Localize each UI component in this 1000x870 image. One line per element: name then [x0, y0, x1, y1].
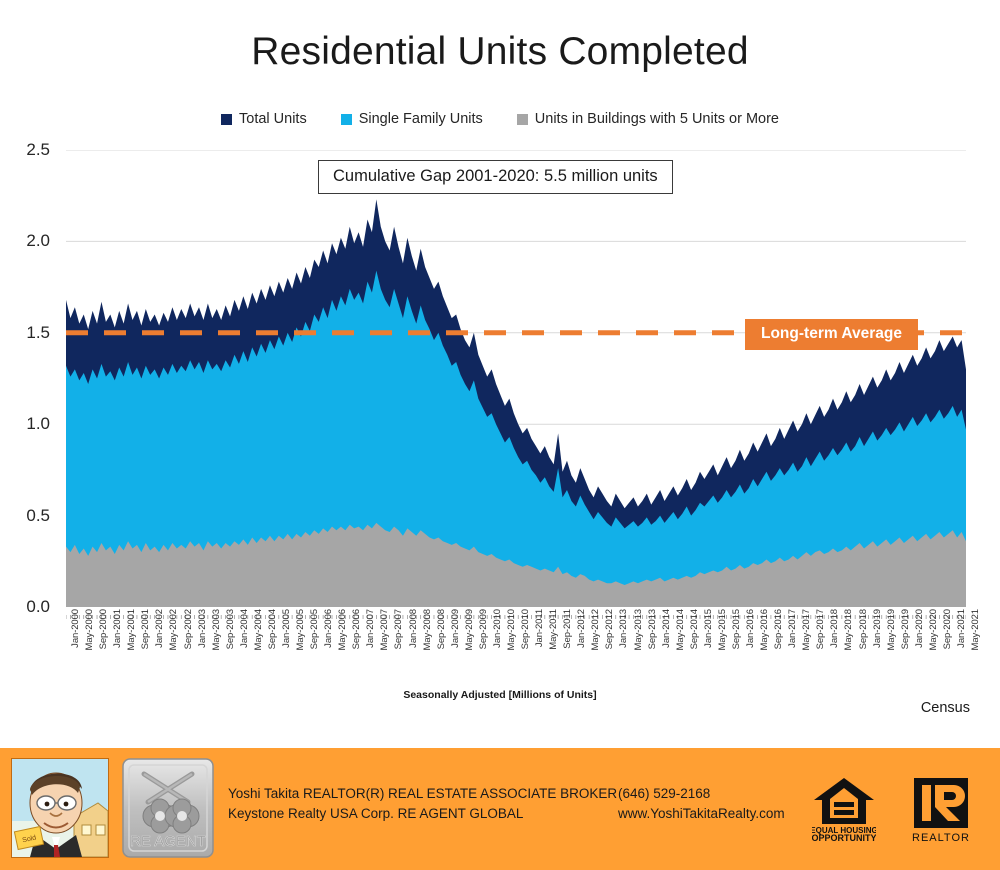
- x-axis-tick-label: May-2009: [464, 609, 475, 650]
- y-axis-tick-label: 1.5: [0, 323, 50, 343]
- x-axis-tick-label: Sep-2013: [647, 609, 658, 649]
- x-axis-tick-label: Sep-2016: [773, 609, 784, 649]
- x-axis-tick-label: Sep-2019: [900, 609, 911, 649]
- square-swatch-icon: [341, 114, 352, 125]
- x-axis-tick-label: Sep-2020: [942, 609, 953, 649]
- x-axis-tick-label: Sep-2003: [225, 609, 236, 649]
- x-axis-tick-label: Sep-2006: [351, 609, 362, 649]
- contact-row-1: Yoshi Takita REALTOR(R) REAL ESTATE ASSO…: [228, 784, 785, 804]
- x-axis-tick-label: Jan-2005: [281, 609, 292, 648]
- x-axis-tick-label: Jan-2003: [197, 609, 208, 648]
- agent-company: Keystone Realty USA Corp. RE AGENT GLOBA…: [228, 804, 618, 824]
- x-axis-tick-label: May-2018: [843, 609, 854, 650]
- x-axis-tick-label: May-2019: [886, 609, 897, 650]
- x-axis-tick-label: Jan-2001: [112, 609, 123, 648]
- x-axis-tick-label: May-2001: [126, 609, 137, 650]
- source-label: Census: [921, 700, 970, 716]
- plot-area: [66, 150, 966, 607]
- x-axis-tick-label: Sep-2018: [858, 609, 869, 649]
- x-axis-tick-label: May-2000: [84, 609, 95, 650]
- caricature-portrait-icon: Sold: [12, 759, 108, 857]
- legend-label: Single Family Units: [359, 111, 483, 127]
- footer-banner: Sold: [0, 748, 1000, 870]
- legend-item-total: Total Units: [221, 111, 307, 127]
- agent-name: Yoshi Takita REALTOR(R) REAL ESTATE ASSO…: [228, 784, 618, 804]
- agent-contact-block: Yoshi Takita REALTOR(R) REAL ESTATE ASSO…: [228, 784, 785, 823]
- y-axis-tick-label: 1.0: [0, 414, 50, 434]
- x-axis-tick-label: May-2013: [633, 609, 644, 650]
- x-axis-tick-label: Jan-2016: [745, 609, 756, 648]
- x-axis-tick-label: May-2017: [801, 609, 812, 650]
- x-axis-tick-label: Sep-2015: [731, 609, 742, 649]
- x-axis-tick-label: Jan-2006: [323, 609, 334, 648]
- x-axis-tick-label: Sep-2008: [436, 609, 447, 649]
- long-term-average-label: Long-term Average: [745, 319, 918, 350]
- x-axis-tick-label: May-2010: [506, 609, 517, 650]
- chart-page: Residential Units Completed Total Units …: [0, 0, 1000, 870]
- re-agent-badge: RE AGENT: [122, 758, 214, 858]
- legend-label: Total Units: [239, 111, 307, 127]
- x-axis-tick-label: Jan-2021: [956, 609, 967, 648]
- x-axis-tick-label: Jan-2000: [70, 609, 81, 648]
- x-axis-tick-label: Sep-2000: [98, 609, 109, 649]
- x-axis-tick-label: May-2004: [253, 609, 264, 650]
- page-title: Residential Units Completed: [0, 30, 1000, 74]
- x-axis-tick-label: Sep-2017: [815, 609, 826, 649]
- x-axis-tick-label: May-2015: [717, 609, 728, 650]
- x-axis-tick-label: Jan-2017: [787, 609, 798, 648]
- house-icon: EQUAL HOUSING OPPORTUNITY: [812, 776, 876, 844]
- x-axis-tick-label: Sep-2004: [267, 609, 278, 649]
- x-axis-tick-label: Sep-2001: [140, 609, 151, 649]
- re-agent-logo-icon: RE AGENT: [122, 758, 214, 858]
- legend-label: Units in Buildings with 5 Units or More: [535, 111, 779, 127]
- x-axis-tick-label: Sep-2007: [393, 609, 404, 649]
- agent-phone: (646) 529-2168: [618, 784, 710, 804]
- x-axis-tick-label: May-2012: [590, 609, 601, 650]
- x-axis-tick-label: May-2006: [337, 609, 348, 650]
- eho-line2: OPPORTUNITY: [812, 833, 876, 843]
- x-axis-tick-label: May-2011: [548, 609, 559, 650]
- x-axis-tick-label: Jan-2004: [239, 609, 250, 648]
- chart-legend: Total Units Single Family Units Units in…: [0, 111, 1000, 127]
- realtor-r-icon: REALTOR: [910, 776, 972, 844]
- x-axis-tick-label: May-2016: [759, 609, 770, 650]
- x-axis: Jan-2000May-2000Sep-2000Jan-2001May-2001…: [66, 609, 966, 681]
- x-axis-tick-label: May-2020: [928, 609, 939, 650]
- x-axis-tick-label: Jan-2008: [408, 609, 419, 648]
- gap-callout-annotation: Cumulative Gap 2001-2020: 5.5 million un…: [318, 160, 673, 194]
- x-axis-tick-label: Jan-2009: [450, 609, 461, 648]
- square-swatch-icon: [517, 114, 528, 125]
- legend-item-multifamily: Units in Buildings with 5 Units or More: [517, 111, 779, 127]
- y-axis: 0.00.51.01.52.02.5: [0, 150, 60, 607]
- y-axis-tick-label: 2.0: [0, 231, 50, 251]
- x-axis-tick-label: Jan-2011: [534, 609, 545, 647]
- x-axis-tick-label: Jan-2012: [576, 609, 587, 648]
- agent-avatar: Sold: [11, 758, 109, 858]
- x-axis-tick-label: May-2003: [211, 609, 222, 650]
- legend-item-single-family: Single Family Units: [341, 111, 483, 127]
- contact-row-2: Keystone Realty USA Corp. RE AGENT GLOBA…: [228, 804, 785, 824]
- square-swatch-icon: [221, 114, 232, 125]
- area-chart-svg: [66, 150, 966, 607]
- x-axis-tick-label: Jan-2015: [703, 609, 714, 648]
- realtor-logo: REALTOR: [910, 776, 972, 844]
- x-axis-tick-label: Sep-2012: [604, 609, 615, 649]
- x-axis-tick-label: May-2007: [379, 609, 390, 650]
- x-axis-tick-label: Jan-2007: [365, 609, 376, 648]
- x-axis-tick-label: Jan-2013: [618, 609, 629, 648]
- x-axis-tick-label: Jan-2020: [914, 609, 925, 648]
- x-axis-tick-label: Jan-2002: [154, 609, 165, 648]
- realtor-wordmark: REALTOR: [912, 832, 970, 844]
- x-axis-tick-label: Sep-2011: [562, 609, 573, 649]
- x-axis-tick-label: Sep-2002: [183, 609, 194, 649]
- x-axis-tick-label: May-2002: [168, 609, 179, 650]
- y-axis-tick-label: 0.5: [0, 506, 50, 526]
- x-axis-tick-label: Jan-2018: [829, 609, 840, 648]
- agent-website[interactable]: www.YoshiTakitaRealty.com: [618, 804, 785, 824]
- x-axis-tick-label: Jan-2014: [661, 609, 672, 648]
- x-axis-tick-label: Jan-2010: [492, 609, 503, 648]
- x-axis-tick-label: Sep-2014: [689, 609, 700, 649]
- x-axis-tick-label: May-2005: [295, 609, 306, 650]
- x-axis-tick-label: Jan-2019: [872, 609, 883, 648]
- equal-housing-opportunity-logo: EQUAL HOUSING OPPORTUNITY: [812, 776, 876, 844]
- y-axis-tick-label: 0.0: [0, 597, 50, 617]
- re-agent-badge-text: RE AGENT: [130, 833, 206, 850]
- chart-subnote: Seasonally Adjusted [Millions of Units]: [0, 689, 1000, 701]
- x-axis-tick-label: Sep-2005: [309, 609, 320, 649]
- x-axis-tick-label: Sep-2010: [520, 609, 531, 649]
- y-axis-tick-label: 2.5: [0, 140, 50, 160]
- x-axis-tick-label: May-2014: [675, 609, 686, 650]
- x-axis-tick-label: May-2008: [422, 609, 433, 650]
- x-axis-tick-label: Sep-2009: [478, 609, 489, 649]
- x-axis-tick-label: May-2021: [970, 609, 981, 650]
